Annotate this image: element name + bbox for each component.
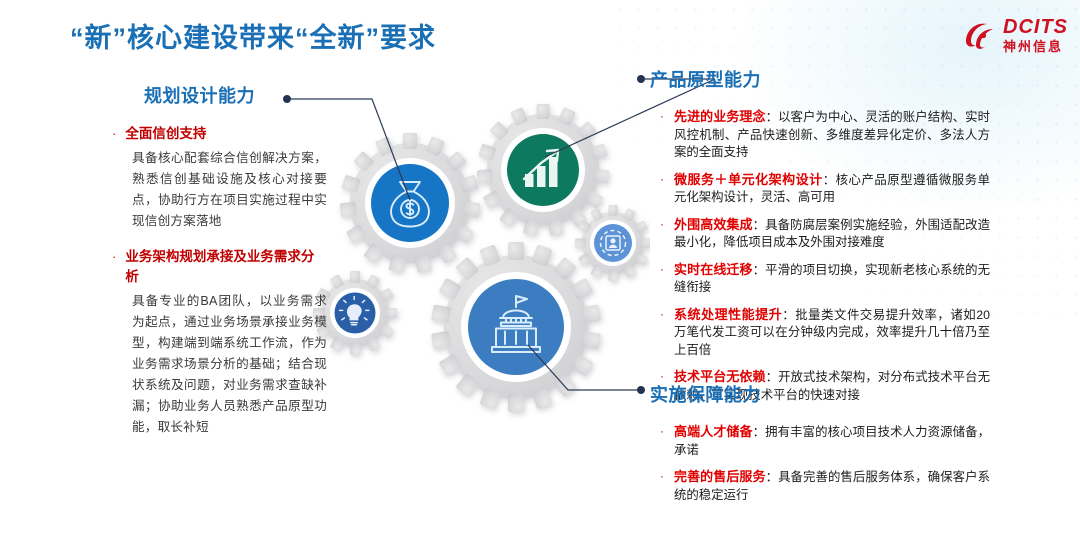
section-implementation-guarantee-capability: 实施保障能力 · 高端人才储备：拥有丰富的核心项目技术人力资源储备，承诺 · 完…: [650, 381, 990, 513]
gear-bank-building: [431, 242, 601, 412]
bullet-text: 完善的售后服务：具备完善的售后服务体系，确保客户系统的稳定运行: [674, 468, 990, 504]
bullet-item: · 实时在线迁移：平滑的项目切换，实现新老核心系统的无缝衔接: [660, 261, 990, 297]
bullet-label: 外围高效集成: [674, 217, 753, 232]
gear-user-network: [575, 205, 650, 281]
bullet-text: 微服务＋单元化架构设计：核心产品原型遵循微服务单元化架构设计，灵活、高可用: [674, 171, 990, 207]
section-heading-product: 产品原型能力: [650, 66, 990, 92]
bullet-text: 先进的业务理念：以客户为中心、灵活的账户结构、实时风控机制、产品快速创新、多维度…: [674, 108, 990, 162]
bullet-label: 业务架构规划承接及业务需求分析: [125, 247, 327, 287]
bullet-dot-icon: ·: [660, 171, 664, 207]
connector-dot-product: [637, 75, 645, 83]
bullet-label: 高端人才储备: [674, 424, 753, 439]
bullet-item: · 先进的业务理念：以客户为中心、灵活的账户结构、实时风控机制、产品快速创新、多…: [660, 108, 990, 162]
bullet-label: 实时在线迁移: [674, 262, 753, 277]
bullet-separator: ：: [766, 470, 778, 484]
bullet-item: · 高端人才储备：拥有丰富的核心项目技术人力资源储备，承诺: [660, 423, 990, 459]
bullet-dot-icon: ·: [660, 423, 664, 459]
section-product-prototype-capability: 产品原型能力 · 先进的业务理念：以客户为中心、灵活的账户结构、实时风控机制、产…: [650, 66, 990, 413]
bullet-label: 系统处理性能提升: [674, 307, 782, 322]
bullet-label: 完善的售后服务: [674, 469, 766, 484]
slide-canvas: “新”核心建设带来“全新”要求 DCITS 神州信息: [0, 0, 1080, 540]
section-planning-capability: 规划设计能力 · 全面信创支持 具备核心配套综合信创解决方案，熟悉信创基础设施及…: [112, 82, 327, 453]
bullet-separator: ：: [782, 308, 795, 322]
bullet-dot-icon: ·: [660, 468, 664, 504]
bullet-item: · 外围高效集成：具备防腐层案例实施经验，外围适配改造最小化，降低项目成本及外围…: [660, 216, 990, 252]
section-heading-implementation: 实施保障能力: [650, 381, 990, 407]
bullet-label: 全面信创支持: [125, 124, 206, 144]
bullet-text: 外围高效集成：具备防腐层案例实施经验，外围适配改造最小化，降低项目成本及外围对接…: [674, 216, 990, 252]
bullet-dot-icon: ·: [660, 108, 664, 162]
bullet-dot-icon: ·: [112, 247, 116, 287]
bullet-label: 先进的业务理念: [674, 109, 766, 124]
bullet-body: 具备核心配套综合信创解决方案，熟悉信创基础设施及核心对接要点，协助行方在项目实施…: [132, 148, 327, 232]
bullet-separator: ：: [753, 425, 766, 439]
bullet-dot-icon: ·: [112, 124, 116, 144]
bullet-separator: ：: [753, 263, 766, 277]
bullet-item: · 系统处理性能提升：批量类文件交易提升效率，诸如20万笔代发工资可以在分钟级内…: [660, 306, 990, 360]
bullet-separator: ：: [753, 218, 766, 232]
bullet-dot-icon: ·: [660, 216, 664, 252]
logo-brand-cn: 神州信息: [1003, 40, 1068, 53]
bullet-text: 实时在线迁移：平滑的项目切换，实现新老核心系统的无缝衔接: [674, 261, 990, 297]
product-bullet-list: · 先进的业务理念：以客户为中心、灵活的账户结构、实时风控机制、产品快速创新、多…: [660, 108, 990, 404]
bullet-separator: ：: [823, 173, 836, 187]
logo-brand-en: DCITS: [1003, 17, 1068, 37]
implementation-bullet-list: · 高端人才储备：拥有丰富的核心项目技术人力资源储备，承诺 · 完善的售后服务：…: [660, 423, 990, 504]
bullet-label: 微服务＋单元化架构设计: [674, 172, 823, 187]
bullet-item: · 业务架构规划承接及业务需求分析: [112, 247, 327, 287]
bullet-dot-icon: ·: [660, 261, 664, 297]
bullet-item: · 微服务＋单元化架构设计：核心产品原型遵循微服务单元化架构设计，灵活、高可用: [660, 171, 990, 207]
brand-logo: DCITS 神州信息: [963, 14, 1068, 56]
dcits-swoosh-icon: [963, 20, 997, 50]
gear-cluster-graphic: [300, 95, 650, 425]
gear-bar-chart: [477, 104, 610, 236]
bullet-body: 具备专业的BA团队，以业务需求为起点，通过业务场景承接业务模型，构建端到端系统工…: [132, 291, 327, 438]
section-heading-planning: 规划设计能力: [144, 82, 327, 108]
bullet-dot-icon: ·: [660, 306, 664, 360]
bullet-item: · 全面信创支持: [112, 124, 327, 144]
bullet-text: 系统处理性能提升：批量类文件交易提升效率，诸如20万笔代发工资可以在分钟级内完成…: [674, 306, 990, 360]
bullet-item: · 完善的售后服务：具备完善的售后服务体系，确保客户系统的稳定运行: [660, 468, 990, 504]
bullet-separator: ：: [766, 110, 778, 124]
bullet-text: 高端人才储备：拥有丰富的核心项目技术人力资源储备，承诺: [674, 423, 990, 459]
gear-money-bag: [340, 133, 481, 273]
page-title: “新”核心建设带来“全新”要求: [70, 16, 436, 55]
